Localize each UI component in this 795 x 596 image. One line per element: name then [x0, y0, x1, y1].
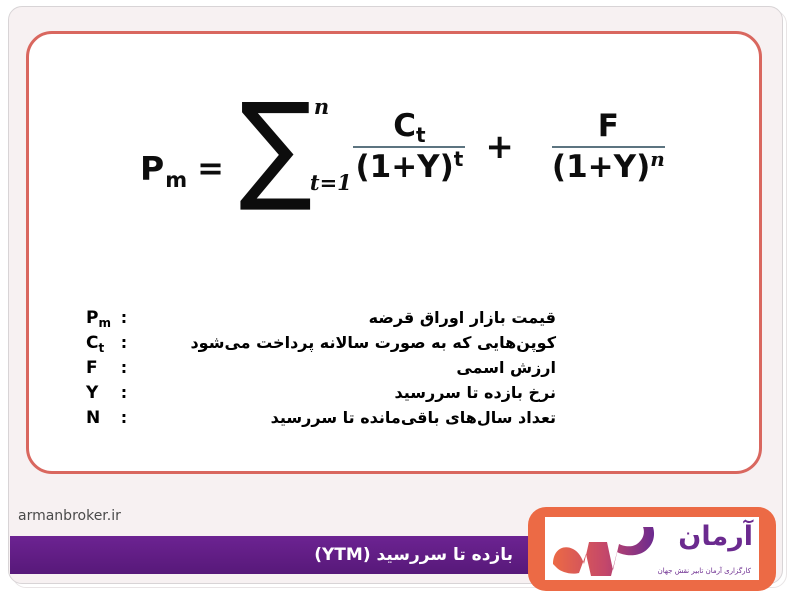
- formula-lhs: Pm: [140, 152, 186, 185]
- legend-row: N : تعداد سال‌های باقی‌مانده تا سررسید: [86, 408, 556, 433]
- legend-description: کوپن‌هایی که به صورت سالانه پرداخت می‌شو…: [132, 333, 556, 352]
- legend-symbol-base: Y: [86, 383, 98, 403]
- face-value-denominator-base: (1+Y): [552, 149, 650, 185]
- legend-symbol: Pm: [86, 308, 116, 328]
- coupon-denominator-base: (1+Y): [355, 149, 453, 185]
- coupon-fraction: Ct (1+Y)t: [353, 110, 465, 184]
- legend-colon: :: [116, 408, 132, 427]
- coupon-denominator-exponent: t: [454, 147, 464, 171]
- site-url-label: armanbroker.ir: [18, 508, 121, 524]
- summation-lower-limit: t=1: [310, 170, 352, 195]
- legend-description: تعداد سال‌های باقی‌مانده تا سررسید: [132, 408, 556, 427]
- summation-upper-limit: n: [314, 94, 329, 119]
- formula-equals-sign: =: [197, 149, 224, 187]
- bull-mark-icon: [549, 524, 661, 576]
- legend-colon: :: [116, 383, 132, 402]
- legend-row: Ct : کوپن‌هایی که به صورت سالانه پرداخت …: [86, 333, 556, 358]
- coupon-numerator-subscript: t: [416, 123, 426, 147]
- formula-plus-sign: +: [485, 127, 514, 167]
- coupon-numerator-base: C: [393, 108, 416, 144]
- formula-lhs-subscript: m: [165, 168, 187, 192]
- legend-colon: :: [116, 308, 132, 327]
- legend-symbol-base: F: [86, 358, 98, 378]
- legend-symbol-subscript: m: [98, 316, 111, 330]
- legend-description: نرخ بازده تا سررسید: [132, 383, 556, 402]
- legend-symbol-base: C: [86, 333, 98, 353]
- legend-row: Pm : قیمت بازار اوراق قرضه: [86, 308, 556, 333]
- coupon-denominator: (1+Y)t: [355, 148, 463, 185]
- legend-symbol-subscript: t: [98, 341, 104, 355]
- slide-canvas: Pm = n ∑ t=1 Ct (1+Y)t + F (1+Y)n Pm : ق…: [0, 0, 795, 596]
- legend-symbol-base: N: [86, 408, 100, 428]
- bond-price-formula: Pm = n ∑ t=1 Ct (1+Y)t + F (1+Y)n: [140, 92, 665, 201]
- face-value-fraction: F (1+Y)n: [552, 110, 665, 184]
- legend-description: قیمت بازار اوراق قرضه: [132, 308, 556, 327]
- face-value-denominator-exponent: n: [650, 147, 665, 171]
- legend-description: ارزش اسمی: [132, 358, 556, 377]
- legend-symbol: N: [86, 408, 116, 428]
- legend-symbol: F: [86, 358, 116, 378]
- legend-symbol: Y: [86, 383, 116, 403]
- face-value-numerator: F: [598, 110, 619, 145]
- slide-title: بازده تا سررسید (YTM): [314, 545, 513, 565]
- coupon-numerator: Ct: [393, 110, 425, 145]
- legend-colon: :: [116, 333, 132, 352]
- legend-symbol-base: P: [86, 308, 98, 328]
- face-value-denominator: (1+Y)n: [552, 148, 665, 185]
- legend-row: Y : نرخ بازده تا سررسید: [86, 383, 556, 408]
- legend-symbol: Ct: [86, 333, 116, 353]
- formula-legend: Pm : قیمت بازار اوراق قرضه Ct : کوپن‌های…: [86, 308, 556, 433]
- slide-title-bar: بازده تا سررسید (YTM): [10, 536, 535, 574]
- logo-tagline: کارگزاری آرمان تابیر نقش جهان: [658, 567, 751, 575]
- logo-inner-panel: آرمان کارگزاری آرمان تابیر نقش جهان: [545, 517, 759, 580]
- arman-broker-logo[interactable]: آرمان کارگزاری آرمان تابیر نقش جهان: [528, 507, 776, 591]
- logo-wordmark: آرمان: [678, 521, 753, 552]
- summation-group: n ∑ t=1: [236, 92, 316, 201]
- legend-colon: :: [116, 358, 132, 377]
- formula-lhs-base: P: [140, 149, 164, 188]
- sigma-icon: ∑: [239, 92, 312, 201]
- legend-row: F : ارزش اسمی: [86, 358, 556, 383]
